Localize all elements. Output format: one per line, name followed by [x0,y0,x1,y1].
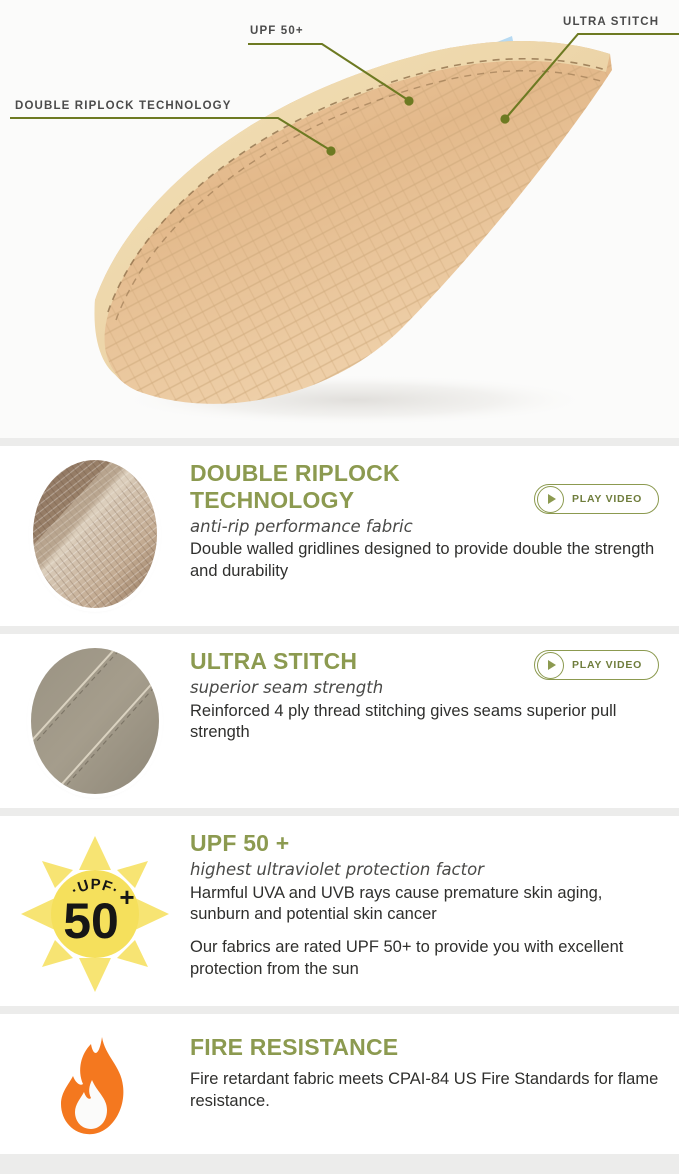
sun-upf-icon: ·UPF· 50 + [15,830,175,998]
feature-subtitle: anti-rip performance fabric [190,517,665,538]
feature-media [0,648,190,794]
play-triangle-icon [537,486,564,513]
hero-illustration: UPF 50+ ULTRA STITCH DOUBLE RIPLOCK TECH… [0,0,679,438]
feature-body: ULTRA STITCH superior seam strength Rein… [190,648,679,744]
section-divider [0,438,679,446]
hero-label-double-riplock: DOUBLE RIPLOCK TECHNOLOGY [15,100,232,112]
play-video-button[interactable]: PLAY VIDEO [534,484,659,514]
sun-value-text: 50 [63,893,119,949]
play-video-label: PLAY VIDEO [572,659,642,671]
feature-heading: DOUBLE RIPLOCK TECHNOLOGY [190,460,490,514]
feature-heading: UPF 50 + [190,830,665,857]
feature-card-upf-50: ·UPF· 50 + UPF 50 + highest ultraviolet … [0,816,679,1006]
feature-subtitle: highest ultraviolet protection factor [190,860,665,881]
feature-heading: FIRE RESISTANCE [190,1034,665,1061]
hero-label-upf: UPF 50+ [250,25,304,37]
play-triangle-icon [537,652,564,679]
hero-label-ultra-stitch: ULTRA STITCH [563,16,659,28]
feature-paragraph: Harmful UVA and UVB rays cause premature… [190,883,642,927]
play-video-button[interactable]: PLAY VIDEO [534,650,659,680]
feature-media [0,1034,190,1140]
feature-media [0,460,190,608]
feature-card-double-riplock: DOUBLE RIPLOCK TECHNOLOGY anti-rip perfo… [0,446,679,626]
tan-fabric-layer [80,30,640,430]
feature-subtitle: superior seam strength [190,678,665,699]
fabric-closeup-stitch-icon [31,648,159,794]
product-feature-infographic: UPF 50+ ULTRA STITCH DOUBLE RIPLOCK TECH… [0,0,679,1148]
feature-media: ·UPF· 50 + [0,830,190,998]
feature-paragraph: Reinforced 4 ply thread stitching gives … [190,701,660,745]
feature-card-fire-resistance: FIRE RESISTANCE Fire retardant fabric me… [0,1014,679,1154]
feature-card-ultra-stitch: ULTRA STITCH superior seam strength Rein… [0,634,679,808]
play-video-label: PLAY VIDEO [572,493,642,505]
feature-body: UPF 50 + highest ultraviolet protection … [190,830,679,981]
flame-icon [47,1034,143,1140]
fabric-layers-diagram [0,0,679,438]
fabric-closeup-riplock-icon [33,460,157,608]
feature-paragraph: Fire retardant fabric meets CPAI-84 US F… [190,1069,660,1113]
feature-paragraph: Double walled gridlines designed to prov… [190,539,658,583]
feature-paragraph: Our fabrics are rated UPF 50+ to provide… [190,937,630,981]
sun-plus-text: + [119,882,134,912]
feature-body: FIRE RESISTANCE Fire retardant fabric me… [190,1034,679,1113]
feature-body: DOUBLE RIPLOCK TECHNOLOGY anti-rip perfo… [190,460,679,583]
